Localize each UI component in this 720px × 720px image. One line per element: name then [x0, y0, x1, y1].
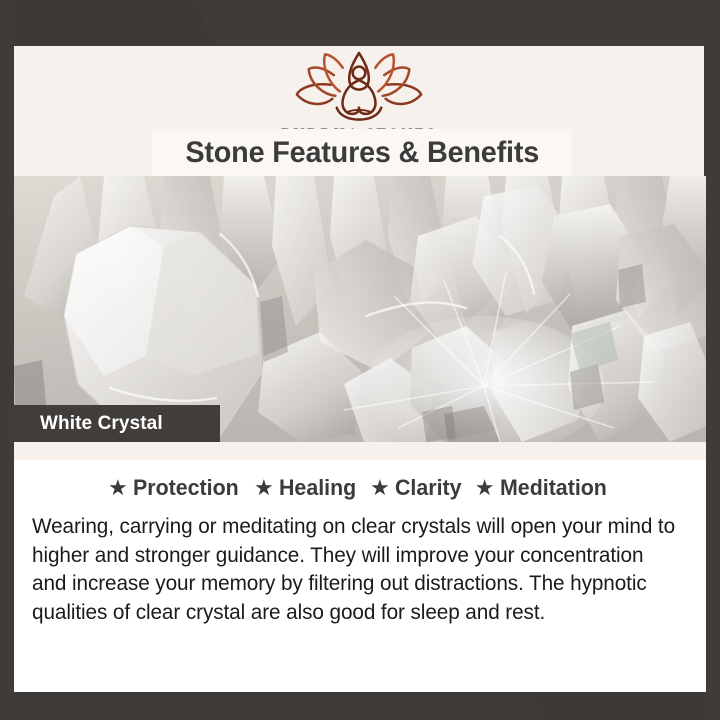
- lotus-meditation-figure-icon: [284, 50, 434, 124]
- benefits-row: ★ Protection ★ Healing ★ Clarity ★ Medit…: [32, 468, 688, 508]
- description-paragraph: Wearing, carrying or meditating on clear…: [32, 512, 677, 626]
- content-panel: ★ Protection ★ Healing ★ Clarity ★ Medit…: [14, 460, 706, 692]
- benefit-item: ★ Healing: [244, 475, 360, 501]
- benefit-label-healing: Healing: [279, 475, 356, 501]
- benefit-label-protection: Protection: [133, 475, 239, 501]
- star-icon: ★: [254, 477, 274, 499]
- benefit-label-meditation: Meditation: [500, 475, 607, 501]
- frame-border-left: [0, 0, 14, 720]
- benefit-item: ★ Protection: [108, 475, 244, 501]
- frame-border-bottom-angled: [0, 692, 720, 720]
- star-icon: ★: [108, 477, 128, 499]
- page-title: Stone Features & Benefits: [185, 136, 539, 170]
- star-icon: ★: [370, 477, 390, 499]
- benefit-label-clarity: Clarity: [395, 475, 462, 501]
- title-ribbon: Stone Features & Benefits: [152, 129, 572, 176]
- crystal-photo: [14, 176, 706, 442]
- crystal-photo-image: [14, 176, 706, 442]
- photo-content-separator: [14, 442, 706, 460]
- star-icon: ★: [475, 477, 495, 499]
- infographic-card: BUDDHA STONES Stone Features & Benefits: [0, 0, 720, 720]
- frame-border-top-angled: [0, 0, 720, 46]
- frame-border-right: [704, 0, 720, 720]
- benefit-item: ★ Clarity: [360, 475, 465, 501]
- benefit-item: ★ Meditation: [465, 475, 612, 501]
- photo-caption-label: White Crystal: [40, 413, 163, 435]
- photo-caption-bar: White Crystal: [14, 405, 220, 442]
